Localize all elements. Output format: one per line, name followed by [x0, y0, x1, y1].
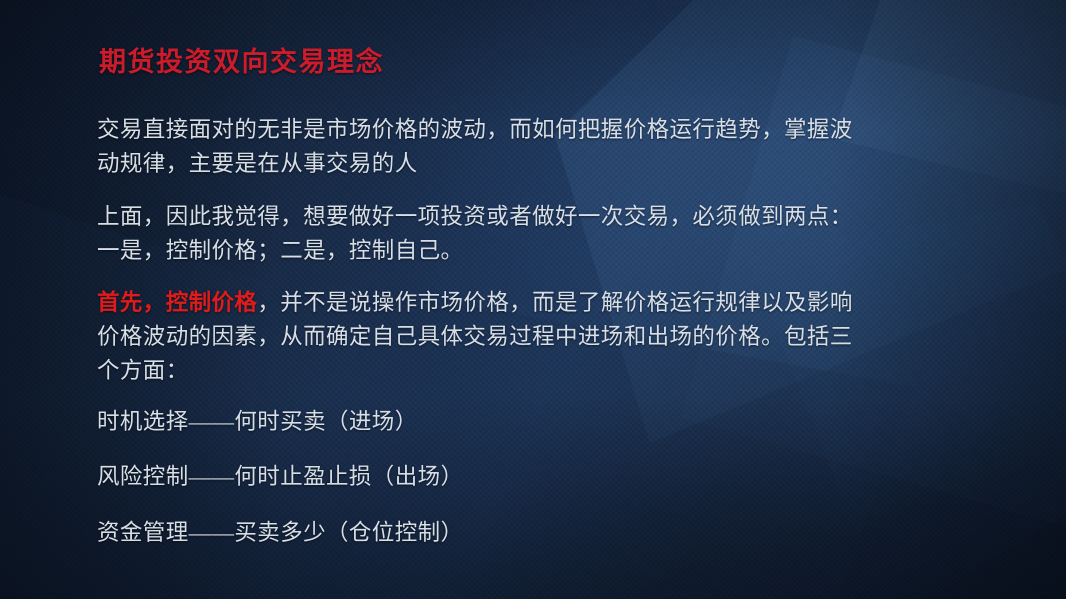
- highlight-phrase: 首先，控制价格: [97, 290, 257, 315]
- point-line-1: 时机选择——何时买卖（进场）: [97, 406, 418, 438]
- body-paragraph-3: 首先，控制价格，并不是说操作市场价格，而是了解价格运行规律以及影响价格波动的因素…: [97, 286, 857, 388]
- body-paragraph-1: 交易直接面对的无非是市场价格的波动，而如何把握价格运行趋势，掌握波动规律，主要是…: [97, 113, 857, 181]
- slide-content: 期货投资双向交易理念 交易直接面对的无非是市场价格的波动，而如何把握价格运行趋势…: [97, 0, 957, 599]
- presentation-slide: 期货投资双向交易理念 交易直接面对的无非是市场价格的波动，而如何把握价格运行趋势…: [0, 0, 1066, 599]
- body-paragraph-2: 上面，因此我觉得，想要做好一项投资或者做好一次交易，必须做到两点：一是，控制价格…: [97, 200, 857, 268]
- point-line-3: 资金管理——买卖多少（仓位控制）: [97, 517, 463, 549]
- point-line-2: 风险控制——何时止盈止损（出场）: [97, 461, 463, 493]
- slide-title: 期货投资双向交易理念: [99, 46, 384, 78]
